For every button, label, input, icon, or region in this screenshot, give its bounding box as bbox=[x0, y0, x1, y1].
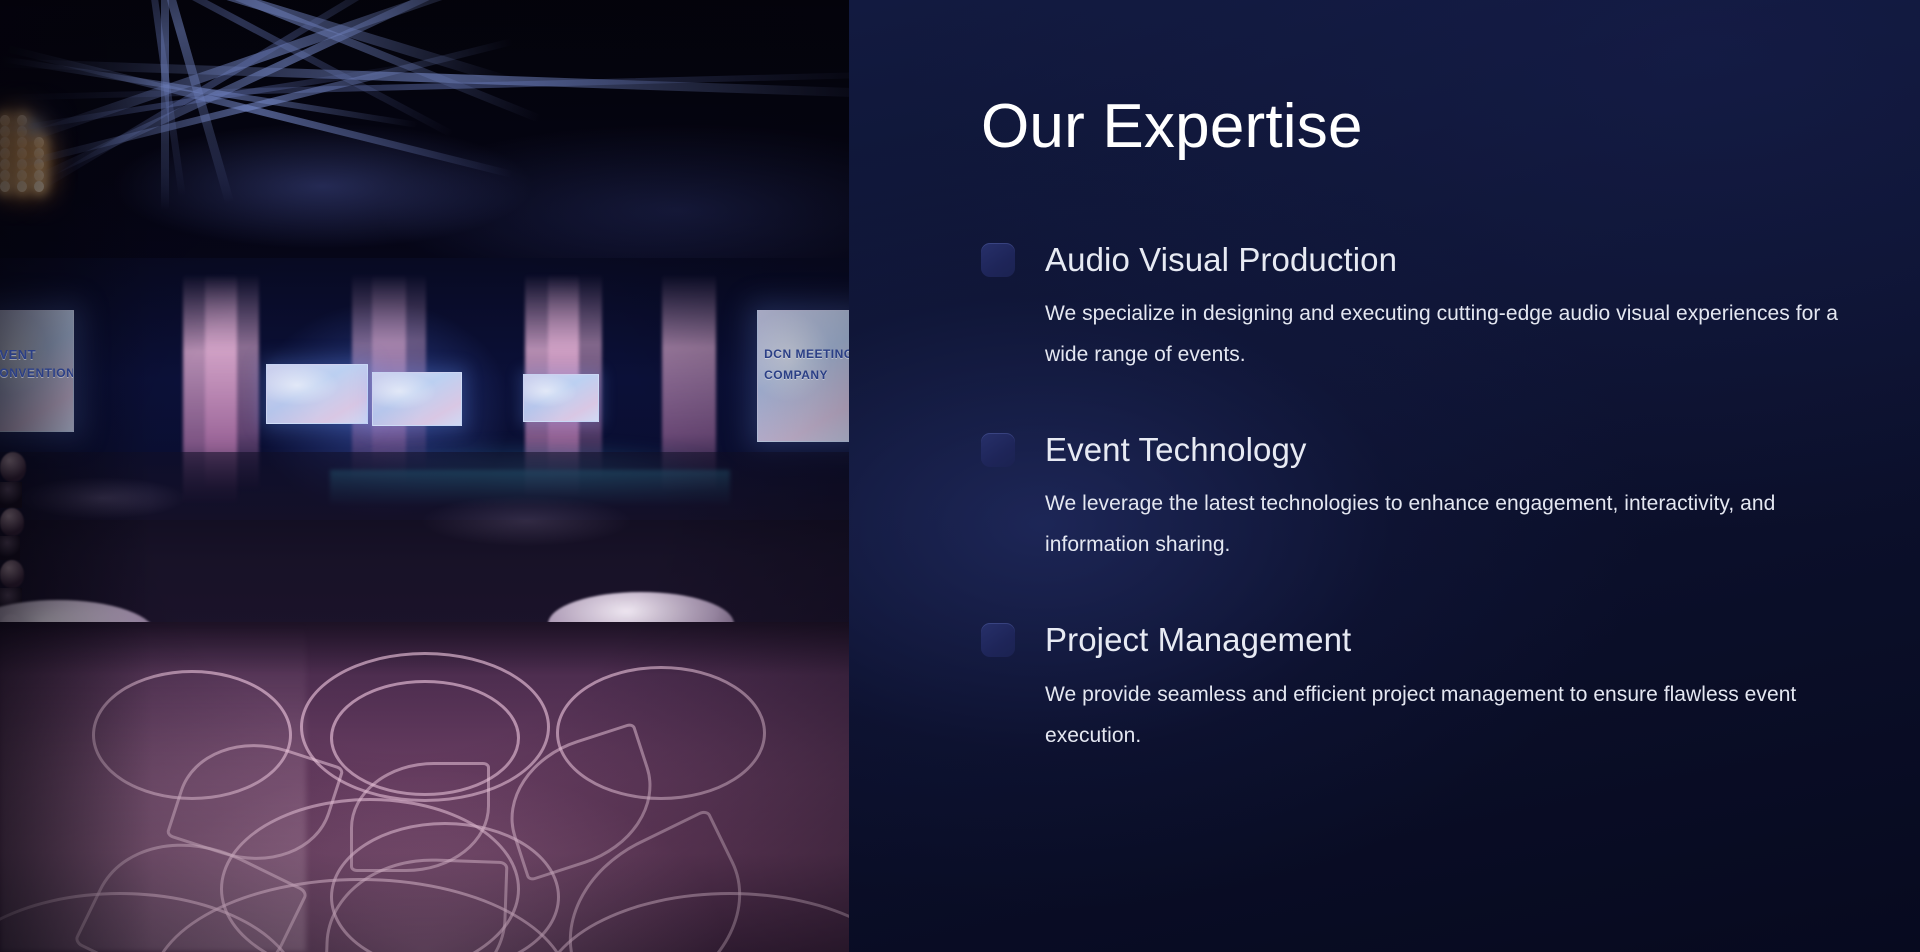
feature-description: We leverage the latest technologies to e… bbox=[1045, 484, 1855, 566]
feature-list: Audio Visual Production We specialize in… bbox=[981, 242, 1920, 757]
stage-lights bbox=[0, 170, 849, 181]
feature-title: Audio Visual Production bbox=[1045, 242, 1397, 278]
page-title: Our Expertise bbox=[981, 96, 1920, 158]
screen-text-line2: COMPANY bbox=[764, 368, 828, 382]
screen-text-line1: DCN MEETING bbox=[764, 347, 849, 361]
projection-screen-center-left bbox=[266, 364, 368, 424]
feature-title: Event Technology bbox=[1045, 432, 1307, 468]
feature-header: Audio Visual Production bbox=[981, 242, 1920, 278]
feature-description: We specialize in designing and executing… bbox=[1045, 294, 1855, 376]
stage-lights bbox=[0, 159, 849, 170]
conference-hall-photo: EVENT CONVENTION DCN MEETING COMPANY bbox=[0, 0, 849, 952]
expertise-section: EVENT CONVENTION DCN MEETING COMPANY bbox=[0, 0, 1920, 952]
expertise-panel: Our Expertise Audio Visual Production We… bbox=[849, 0, 1920, 952]
feature-item-audio-visual-production[interactable]: Audio Visual Production We specialize in… bbox=[981, 242, 1920, 376]
ceiling-rigging bbox=[0, 0, 849, 300]
projection-screen-right: DCN MEETING COMPANY bbox=[757, 310, 849, 442]
feature-header: Project Management bbox=[981, 622, 1920, 658]
stage-lights bbox=[0, 181, 849, 192]
feature-item-event-technology[interactable]: Event Technology We leverage the latest … bbox=[981, 432, 1920, 566]
projection-screen-center bbox=[372, 372, 462, 426]
screen-text-line1: EVENT bbox=[0, 347, 36, 362]
feature-title: Project Management bbox=[1045, 622, 1351, 658]
patterned-carpet bbox=[0, 622, 849, 952]
feature-header: Event Technology bbox=[981, 432, 1920, 468]
screen-text-line2: CONVENTION bbox=[0, 366, 74, 380]
projection-screen-left: EVENT CONVENTION bbox=[0, 310, 74, 432]
rounded-square-icon bbox=[981, 623, 1015, 657]
feature-item-project-management[interactable]: Project Management We provide seamless a… bbox=[981, 622, 1920, 756]
rounded-square-icon bbox=[981, 433, 1015, 467]
rounded-square-icon bbox=[981, 243, 1015, 277]
projection-screen-center-right bbox=[523, 374, 599, 422]
feature-description: We provide seamless and efficient projec… bbox=[1045, 675, 1855, 757]
